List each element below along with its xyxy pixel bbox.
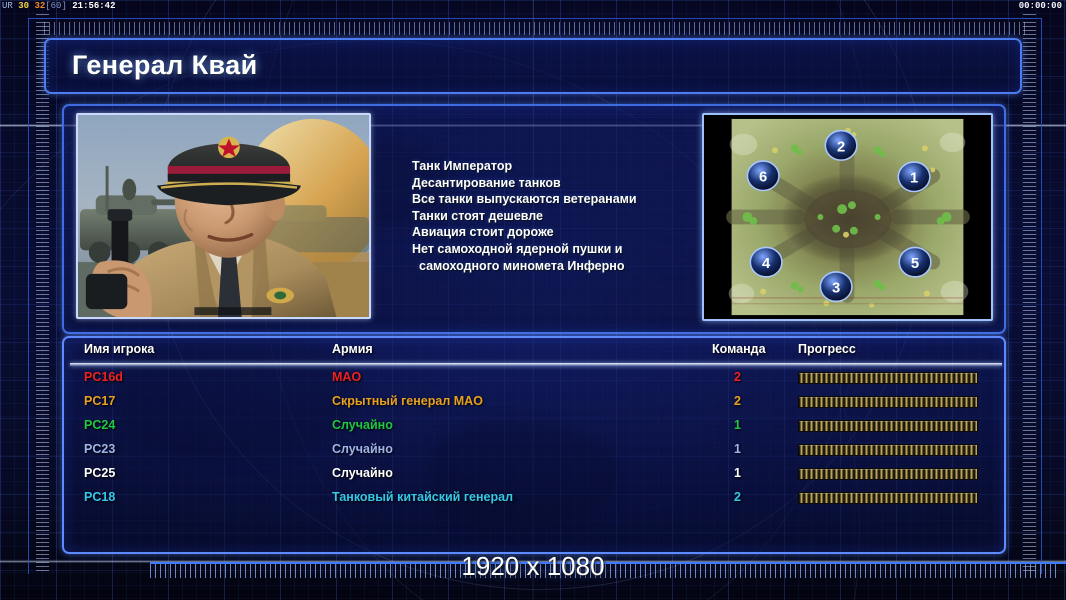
svg-text:3: 3	[832, 281, 840, 297]
description-line: Танк Император	[412, 158, 732, 175]
player-team: 2	[734, 394, 741, 408]
frame-line-top	[28, 18, 1042, 19]
status-clock: 21:56:42	[72, 1, 115, 11]
status-prefix: UR	[2, 1, 13, 11]
player-army: Танковый китайский генерал	[332, 490, 513, 504]
status-bracket: [60]	[45, 1, 67, 11]
player-team: 2	[734, 490, 741, 504]
player-name: PC24	[84, 418, 115, 432]
table-row[interactable]: PC23Случайно1	[64, 440, 1008, 464]
player-team: 1	[734, 418, 741, 432]
header-team: Команда	[712, 342, 792, 356]
player-name: PC18	[84, 490, 115, 504]
table-row[interactable]: PC16dMAO2	[64, 368, 1008, 392]
svg-text:6: 6	[759, 170, 767, 186]
ruler-top	[44, 22, 1026, 35]
description-line: самоходного миномета Инферно	[412, 258, 732, 275]
player-name: PC23	[84, 442, 115, 456]
header-army: Армия	[332, 342, 702, 356]
player-army: Случайно	[332, 442, 393, 456]
roster-rows: PC16dMAO2PC17Скрытный генерал MAO2PC24Сл…	[64, 368, 1008, 512]
start-position-marker-2: 2	[825, 131, 857, 160]
svg-text:5: 5	[911, 256, 919, 272]
title-panel: Генерал Квай	[44, 38, 1022, 94]
description-line: Все танки выпускаются ветеранами	[412, 191, 732, 208]
status-num1: 30	[18, 1, 29, 11]
description-line: Танки стоят дешевле	[412, 208, 732, 225]
table-row[interactable]: PC25Случайно1	[64, 464, 1008, 488]
svg-text:2: 2	[837, 139, 845, 155]
player-name: PC16d	[84, 370, 123, 384]
frame-line-left	[28, 18, 29, 574]
table-row[interactable]: PC18Танковый китайский генерал2	[64, 488, 1008, 512]
status-bar-left: UR 30 32[60] 21:56:42	[2, 0, 115, 13]
player-army: Случайно	[332, 418, 393, 432]
player-team: 1	[734, 442, 741, 456]
start-position-marker-3: 3	[820, 272, 852, 301]
player-army: MAO	[332, 370, 361, 384]
ruler-left	[36, 14, 49, 574]
table-row[interactable]: PC24Случайно1	[64, 416, 1008, 440]
status-num2: 32	[34, 1, 45, 11]
table-row[interactable]: PC17Скрытный генерал MAO2	[64, 392, 1008, 416]
header-player-name: Имя игрока	[84, 342, 324, 356]
frame-line-right	[1041, 18, 1042, 574]
start-position-marker-4: 4	[750, 247, 782, 276]
player-team: 1	[734, 466, 741, 480]
player-progress-bar	[798, 420, 978, 432]
general-info-panel: Танк Император Десантирование танков Все…	[62, 104, 1006, 334]
status-timer: 00:00:00	[1019, 0, 1062, 13]
start-position-marker-1: 1	[898, 162, 930, 191]
minimap-image: 1 2 3 4 5	[704, 115, 991, 319]
status-bar: UR 30 32[60] 21:56:42 00:00:00	[0, 0, 1066, 13]
player-progress-bar	[798, 444, 978, 456]
player-team: 2	[734, 370, 741, 384]
player-army: Случайно	[332, 466, 393, 480]
minimap: 1 2 3 4 5	[702, 113, 993, 321]
general-description: Танк Император Десантирование танков Все…	[412, 158, 732, 274]
description-line: Авиация стоит дороже	[412, 224, 732, 241]
portrait-illustration	[78, 115, 369, 317]
svg-text:4: 4	[762, 256, 771, 272]
player-army: Скрытный генерал MAO	[332, 394, 483, 408]
player-progress-bar	[798, 468, 978, 480]
player-progress-bar	[798, 396, 978, 408]
player-name: PC17	[84, 394, 115, 408]
start-position-marker-6: 6	[747, 161, 779, 190]
header-progress: Прогресс	[798, 342, 988, 356]
start-position-marker-5: 5	[899, 247, 931, 276]
description-line: Десантирование танков	[412, 175, 732, 192]
player-progress-bar	[798, 492, 978, 504]
player-name: PC25	[84, 466, 115, 480]
resolution-overlay: 1920 x 1080	[0, 551, 1066, 582]
roster-header-divider	[70, 363, 1002, 366]
page-title: Генерал Квай	[72, 50, 258, 81]
roster-header-row: Имя игрока Армия Команда Прогресс	[64, 342, 1008, 364]
loading-screen: UR 30 32[60] 21:56:42 00:00:00 Генерал К…	[0, 0, 1066, 600]
general-portrait	[76, 113, 371, 319]
player-roster-panel: Имя игрока Армия Команда Прогресс PC16dM…	[62, 336, 1006, 554]
ruler-right	[1023, 14, 1036, 574]
player-progress-bar	[798, 372, 978, 384]
svg-text:1: 1	[910, 171, 918, 187]
description-line: Нет самоходной ядерной пушки и	[412, 241, 732, 258]
